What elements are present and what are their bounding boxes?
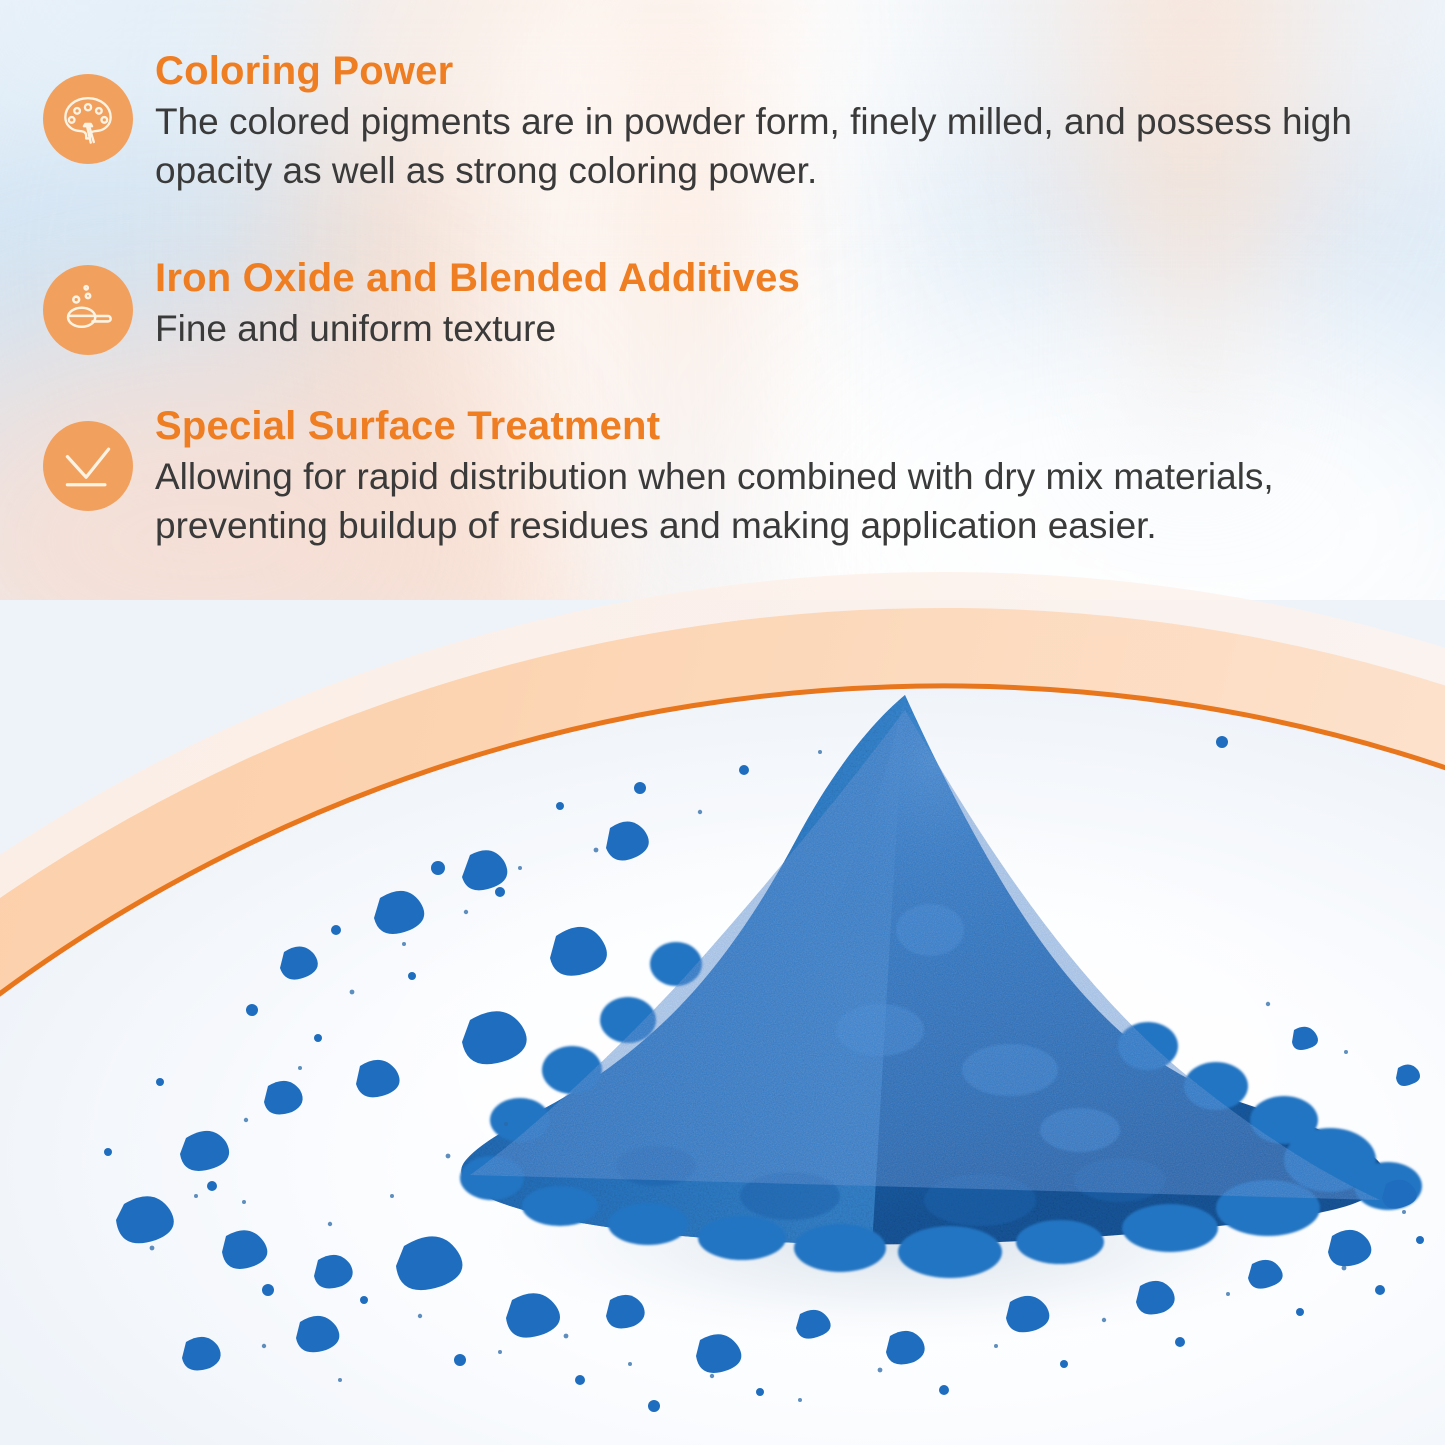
chevron-down-line-icon (43, 421, 133, 511)
feature-heading: Coloring Power (155, 48, 1400, 95)
feature-item-iron-oxide-additives: Iron Oxide and Blended Additives Fine an… (43, 255, 800, 355)
feature-heading: Iron Oxide and Blended Additives (155, 255, 800, 302)
feature-body: Allowing for rapid distribution when com… (155, 452, 1400, 550)
feature-body: Fine and uniform texture (155, 304, 800, 353)
feature-text-block: Iron Oxide and Blended Additives Fine an… (155, 255, 800, 353)
feature-item-coloring-power: Coloring Power The colored pigments are … (43, 48, 1400, 196)
palette-icon (43, 74, 133, 164)
feature-body: The colored pigments are in powder form,… (155, 97, 1400, 195)
feature-heading: Special Surface Treatment (155, 403, 1400, 450)
powder-pile (0, 600, 1445, 1445)
product-photo (0, 600, 1445, 1445)
powder-spoon-icon (43, 265, 133, 355)
feature-text-block: Special Surface Treatment Allowing for r… (155, 403, 1400, 551)
infographic-canvas: Coloring Power The colored pigments are … (0, 0, 1445, 1445)
feature-text-block: Coloring Power The colored pigments are … (155, 48, 1400, 196)
feature-item-special-surface-treatment: Special Surface Treatment Allowing for r… (43, 403, 1400, 551)
